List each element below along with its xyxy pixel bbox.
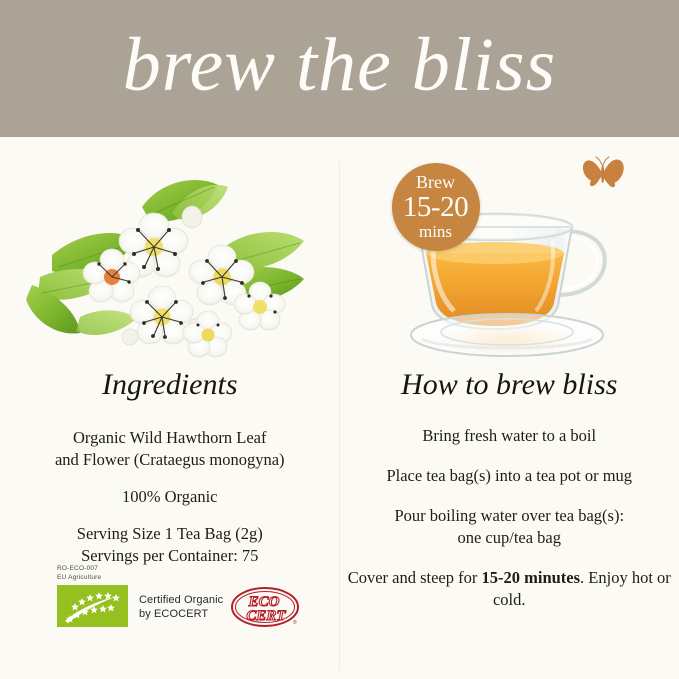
brewing-steps: Bring fresh water to a boil Place tea ba… xyxy=(340,425,679,629)
brew-step-4-duration: 15-20 minutes xyxy=(482,568,581,587)
ingredients-text: Organic Wild Hawthorn Leaf and Flower (C… xyxy=(0,427,340,567)
eu-organic-leaf-icon xyxy=(57,585,128,627)
svg-text:®: ® xyxy=(293,619,297,626)
eu-agriculture-code: RO-ECO-007 EU Agriculture xyxy=(57,565,101,582)
butterfly-icon xyxy=(580,153,628,193)
ingredients-column: Ingredients Organic Wild Hawthorn Leaf a… xyxy=(0,137,340,679)
brew-step-4: Cover and steep for 15-20 minutes. Enjoy… xyxy=(340,567,679,611)
page-title: brew the bliss xyxy=(123,27,556,111)
certified-organic-text: Certified Organic by ECOCERT xyxy=(139,593,223,621)
brew-step-3: Pour boiling water over tea bag(s): one … xyxy=(340,505,679,549)
badge-line-1: Brew xyxy=(416,173,455,192)
eu-code-line-1: RO-ECO-007 xyxy=(57,565,101,574)
ingredient-organic-text: 100% Organic xyxy=(122,487,217,506)
brew-step-1-text: Bring fresh water to a boil xyxy=(422,426,596,445)
certification-row: RO-ECO-007 EU Agriculture xyxy=(55,565,310,627)
product-info-panel: brew the bliss xyxy=(0,0,679,679)
svg-text:CERT: CERT xyxy=(246,608,286,624)
eu-code-line-2: EU Agriculture xyxy=(57,574,101,583)
ingredient-line-servings: Serving Size 1 Tea Bag (2g) Servings per… xyxy=(0,523,340,567)
badge-line-2: 15-20 xyxy=(403,192,468,222)
cert-text-line-2: by ECOCERT xyxy=(139,607,223,621)
brewing-heading: How to brew bliss xyxy=(340,368,679,402)
brewing-instructions-column: Brew 15-20 mins xyxy=(340,137,679,679)
brew-step-4-text-before: Cover and steep for xyxy=(348,568,482,587)
brew-step-2: Place tea bag(s) into a tea pot or mug xyxy=(340,465,679,487)
brew-time-badge: Brew 15-20 mins xyxy=(392,163,480,251)
ingredients-heading: Ingredients xyxy=(0,368,340,402)
badge-line-3: mins xyxy=(419,222,452,241)
ingredient-servings-text: Serving Size 1 Tea Bag (2g) Servings per… xyxy=(77,524,263,565)
ingredient-line-botanical: Organic Wild Hawthorn Leaf and Flower (C… xyxy=(0,427,340,471)
header-banner: brew the bliss xyxy=(0,0,679,137)
content-columns: Ingredients Organic Wild Hawthorn Leaf a… xyxy=(0,137,679,679)
hawthorn-flowers-image xyxy=(22,167,318,362)
brew-step-2-text: Place tea bag(s) into a tea pot or mug xyxy=(386,466,632,485)
ingredient-botanical-text: Organic Wild Hawthorn Leaf and Flower (C… xyxy=(55,428,285,469)
brew-step-1: Bring fresh water to a boil xyxy=(340,425,679,447)
ingredient-line-organic: 100% Organic xyxy=(0,486,340,508)
brew-step-3-text: Pour boiling water over tea bag(s): one … xyxy=(394,506,624,547)
ecocert-logo-icon: ECO CERT ® xyxy=(229,585,301,629)
cert-text-line-1: Certified Organic xyxy=(139,593,223,607)
